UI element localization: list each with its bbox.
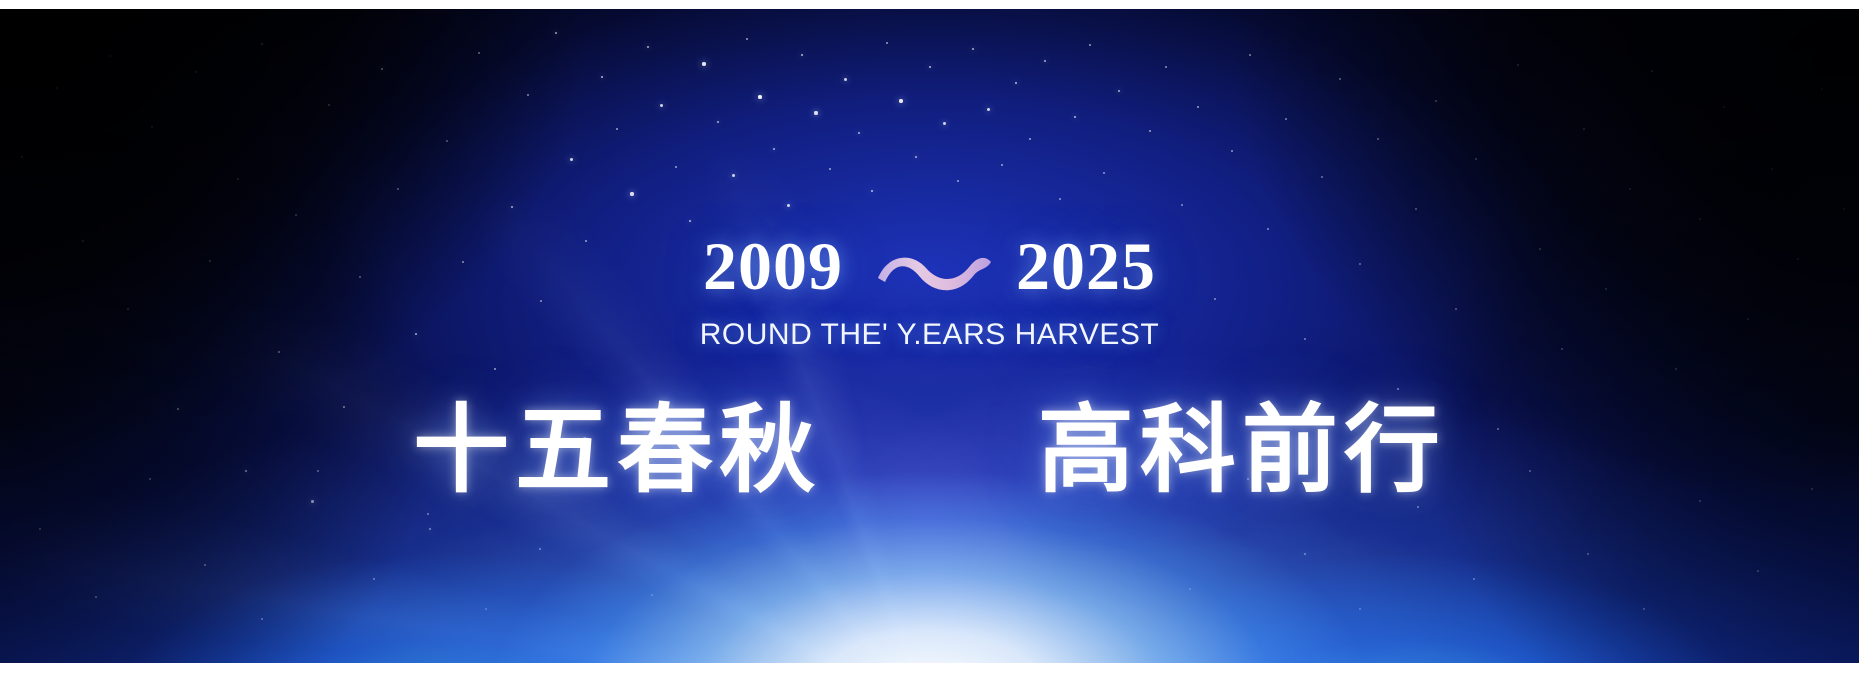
top-white-band: [0, 0, 1859, 9]
year-start: 2009: [703, 232, 843, 300]
anniversary-banner: 2009 2025 ROUND THE' Y.EARS HA: [0, 0, 1859, 680]
headline-left-phrase: 十五春秋: [413, 400, 821, 502]
banner-content: 2009 2025 ROUND THE' Y.EARS HA: [0, 0, 1859, 680]
wave-ribbon-icon: [874, 244, 994, 300]
banner-headline: 十五春秋 高科前行: [0, 400, 1859, 502]
headline-right-phrase: 高科前行: [1038, 400, 1446, 502]
banner-subtitle: ROUND THE' Y.EARS HARVEST: [0, 318, 1859, 352]
year-range-row: 2009 2025: [0, 232, 1859, 300]
bottom-white-band: [0, 663, 1859, 680]
year-end: 2025: [1016, 232, 1156, 300]
